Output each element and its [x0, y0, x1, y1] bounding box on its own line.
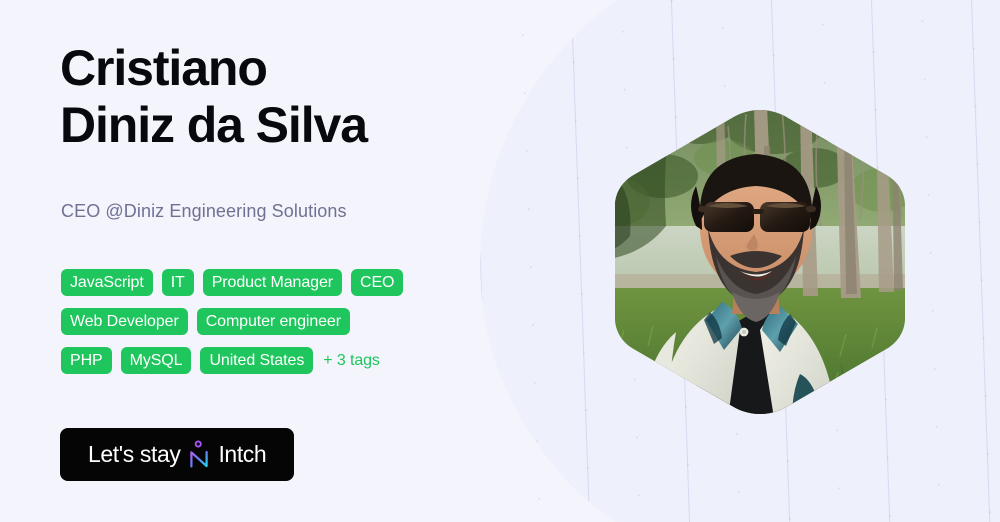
avatar: [604, 106, 916, 418]
tag-row: Web Developer Computer engineer: [61, 308, 561, 335]
cta-text-after: Intch: [218, 441, 266, 468]
tag-chip[interactable]: JavaScript: [61, 269, 153, 296]
tag-chip[interactable]: CEO: [351, 269, 403, 296]
intch-n-logo-icon: [188, 440, 210, 470]
tag-row: JavaScript IT Product Manager CEO: [61, 269, 561, 296]
tag-chip[interactable]: PHP: [61, 347, 112, 374]
more-tags-label[interactable]: + 3 tags: [322, 347, 380, 374]
tag-chip[interactable]: Computer engineer: [197, 308, 350, 335]
name-line-first: Cristiano: [60, 40, 620, 97]
profile-headline: CEO @Diniz Engineering Solutions: [61, 198, 347, 224]
tag-row: PHP MySQL United States + 3 tags: [61, 347, 561, 374]
cta-text-before: Let's stay: [88, 441, 180, 468]
tag-chip[interactable]: Product Manager: [203, 269, 342, 296]
lets-stay-intch-button[interactable]: Let's stay Intch: [60, 428, 294, 481]
tag-chip[interactable]: United States: [200, 347, 313, 374]
name-line-last: Diniz da Silva: [60, 97, 620, 154]
avatar-hexagon-photo: [604, 106, 916, 418]
tag-chip[interactable]: IT: [162, 269, 194, 296]
tag-chip[interactable]: Web Developer: [61, 308, 188, 335]
tag-chip[interactable]: MySQL: [121, 347, 192, 374]
profile-card-content: Cristiano Diniz da Silva CEO @Diniz Engi…: [60, 0, 620, 522]
page-title: Cristiano Diniz da Silva: [60, 40, 620, 154]
tag-list: JavaScript IT Product Manager CEO Web De…: [61, 269, 561, 386]
